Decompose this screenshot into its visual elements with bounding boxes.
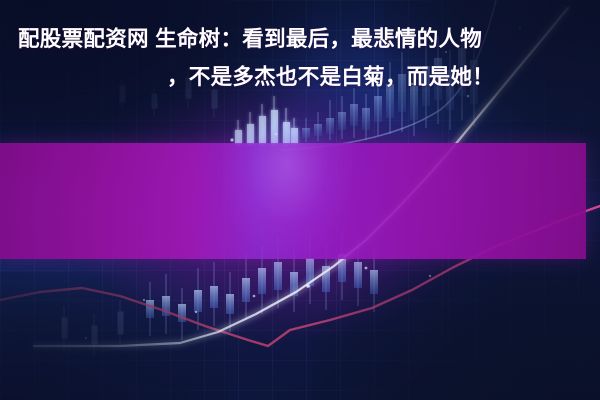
headline-band	[0, 143, 586, 259]
vignette-bottom-left	[0, 272, 228, 400]
headline-line-1: 配股票配资网 生命树：看到最后，最悲情的人物	[18, 20, 572, 58]
headline-text-block: 配股票配资网 生命树：看到最后，最悲情的人物 ，不是多杰也不是白菊，而是她！	[0, 0, 586, 116]
headline-line-2: ，不是多杰也不是白菊，而是她！	[18, 58, 572, 96]
banner-canvas: 配股票配资网 生命树：看到最后，最悲情的人物 ，不是多杰也不是白菊，而是她！	[0, 0, 600, 400]
headline-band-sheen	[223, 143, 352, 259]
